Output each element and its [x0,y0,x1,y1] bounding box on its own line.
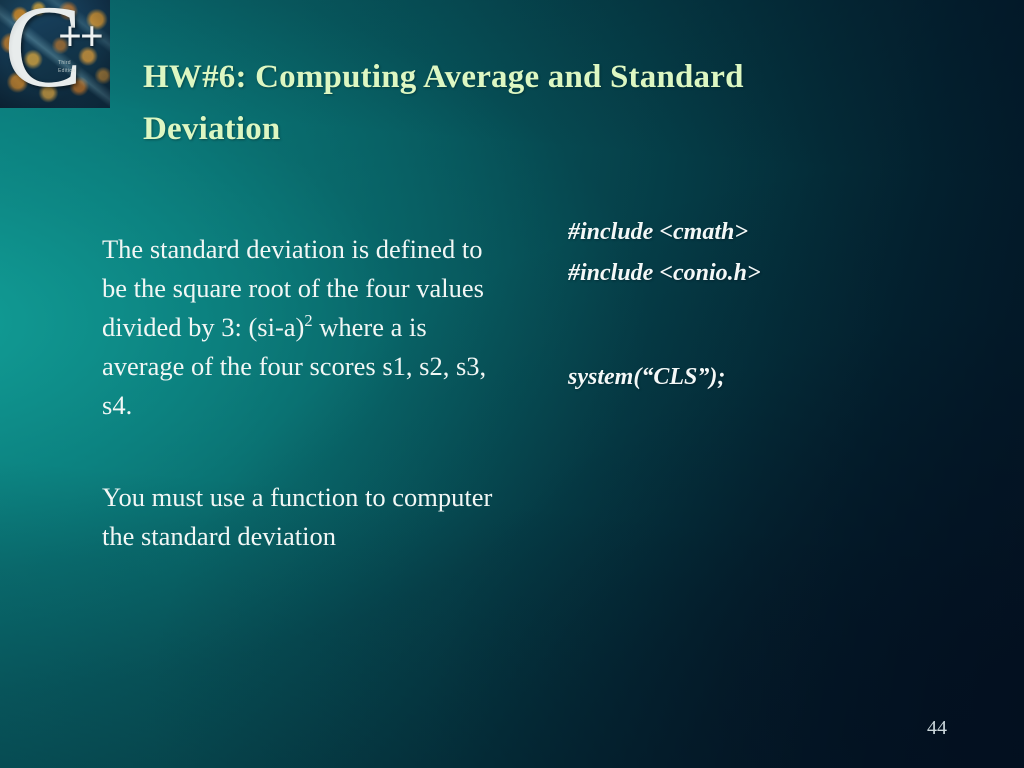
code-block-system-call: system(“CLS”); [568,357,968,398]
code-block-includes: #include <cmath> #include <conio.h> [568,212,968,295]
code-block-spacer [568,295,968,357]
slide-canvas: C ++ Third Edition HW#6: Computing Avera… [0,0,1024,768]
paragraph-standard-deviation-definition: The standard deviation is defined to be … [102,230,510,425]
cpp-book-cover-logo: C ++ Third Edition [0,0,110,108]
page-number: 44 [927,717,947,740]
code-line: #include <conio.h> [568,253,968,294]
code-line: system(“CLS”); [568,357,968,398]
left-text-column: The standard deviation is defined to be … [102,203,510,583]
book-cover-vignette [0,0,110,108]
paragraph-function-requirement: You must use a function to computer the … [102,478,510,556]
right-code-column: #include <cmath> #include <conio.h> syst… [568,212,968,398]
exponent-two: 2 [304,311,312,330]
slide-title: HW#6: Computing Average and Standard Dev… [143,52,843,155]
code-line: #include <cmath> [568,212,968,253]
